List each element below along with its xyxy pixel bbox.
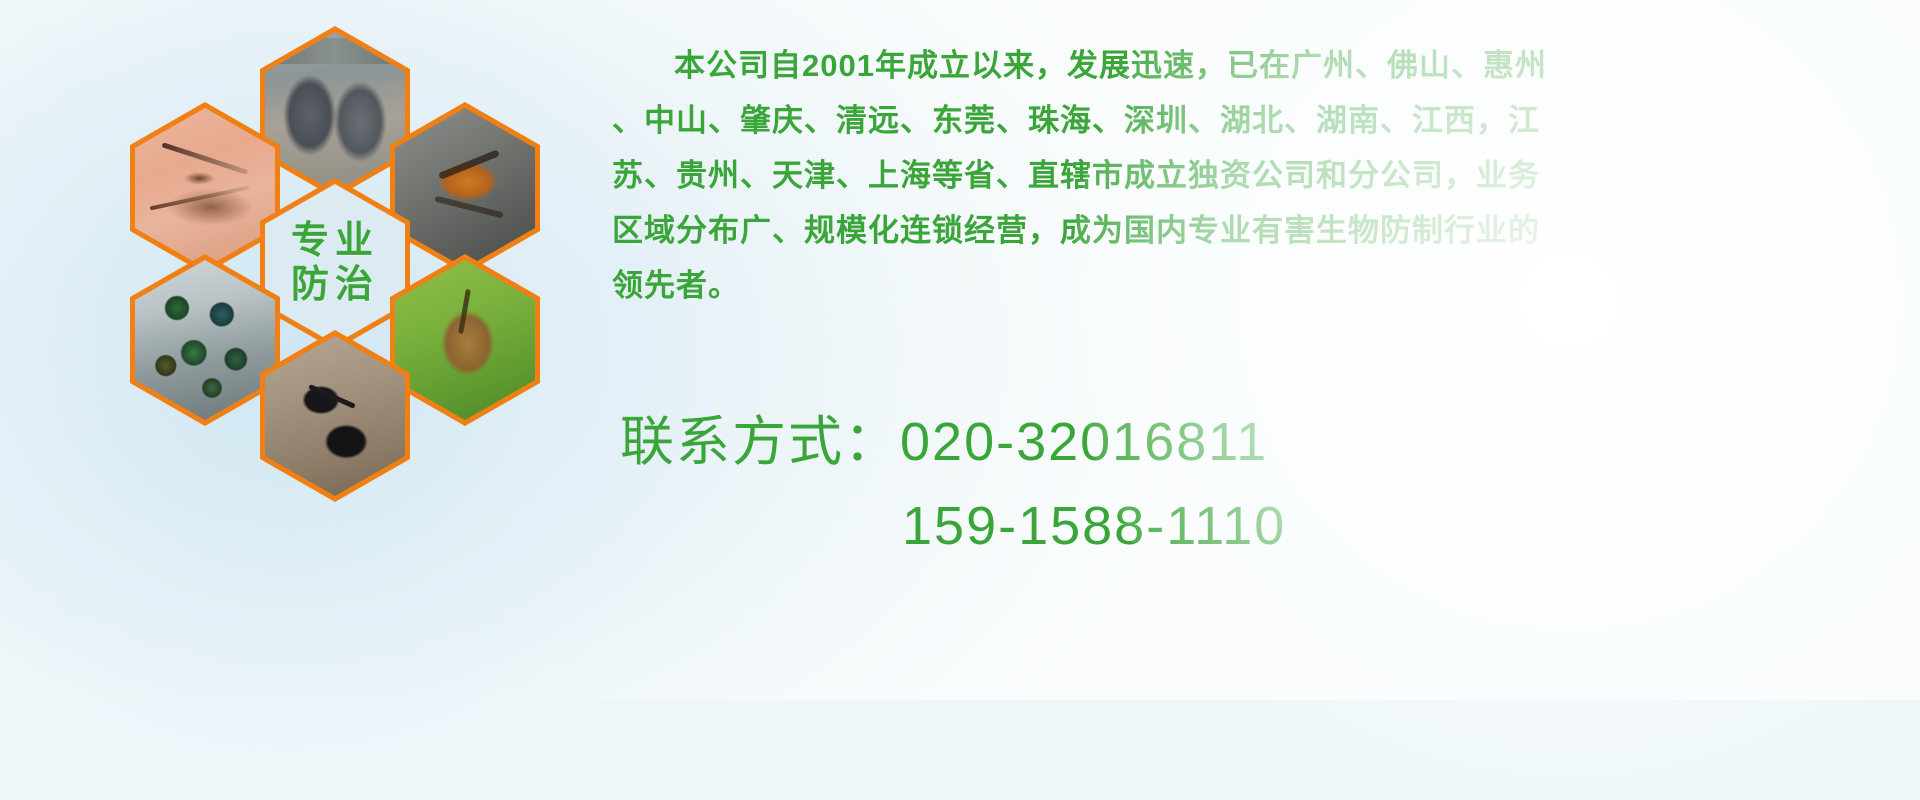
rats-photo: [260, 26, 410, 198]
description-line: 苏、贵州、天津、上海等省、直辖市成立独资公司和分公司，业务: [612, 148, 1912, 203]
cockroach-photo: [390, 102, 540, 274]
description-line: 领先者。: [612, 258, 1912, 313]
company-description: 本公司自2001年成立以来，发展迅速，已在广州、佛山、惠州 、中山、肇庆、清远、…: [612, 38, 1912, 313]
hex-photo-cluster: 专业 防治: [100, 10, 580, 570]
pest-control-banner: 专业 防治 本公司自2001年成立以来，发展迅速，已在广州、佛山、惠州 、中山、…: [0, 0, 1920, 700]
logo-line-1: 专业: [291, 222, 379, 262]
contact-block: 联系方式：020-32016811 159-1588-1110: [620, 400, 1900, 568]
flies-photo: [130, 254, 280, 426]
contact-phone-primary: 联系方式：020-32016811: [620, 400, 1900, 484]
description-line: 区域分布广、规模化连锁经营，成为国内专业有害生物防制行业的: [612, 203, 1912, 258]
description-line: 本公司自2001年成立以来，发展迅速，已在广州、佛山、惠州: [612, 38, 1912, 93]
ant-photo: [260, 330, 410, 502]
mosquito-photo: [130, 102, 280, 274]
contact-phone-mobile: 159-1588-1110: [620, 484, 1900, 568]
logo-hex: 专业 防治: [260, 178, 410, 350]
logo-line-2: 防治: [291, 266, 379, 306]
description-line: 、中山、肇庆、清远、东莞、珠海、深圳、湖北、湖南、江西，江: [612, 93, 1912, 148]
stink-bug-photo: [390, 254, 540, 426]
logo-label: 专业 防治: [265, 184, 405, 344]
